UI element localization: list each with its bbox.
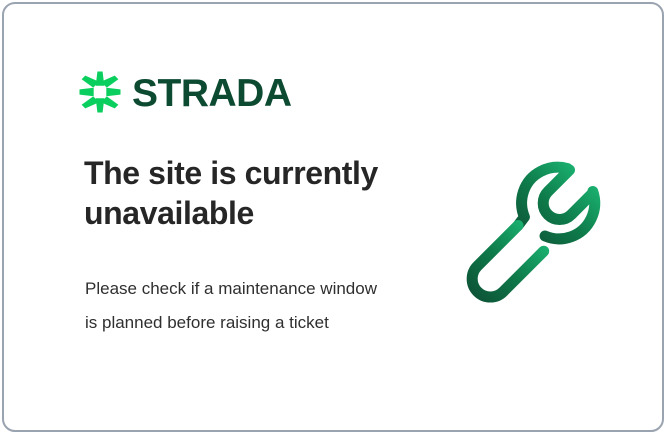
page-title: The site is currently unavailable bbox=[84, 154, 414, 233]
wrench-icon bbox=[456, 152, 616, 312]
page-root: STRADA The site is currently unavailable… bbox=[0, 0, 666, 436]
page-description: Please check if a maintenance window is … bbox=[85, 272, 385, 340]
brand-wordmark: STRADA bbox=[132, 74, 292, 113]
status-card: STRADA The site is currently unavailable… bbox=[2, 2, 664, 432]
brand-lockup: STRADA bbox=[78, 70, 292, 114]
asterisk-star-icon bbox=[78, 70, 122, 114]
